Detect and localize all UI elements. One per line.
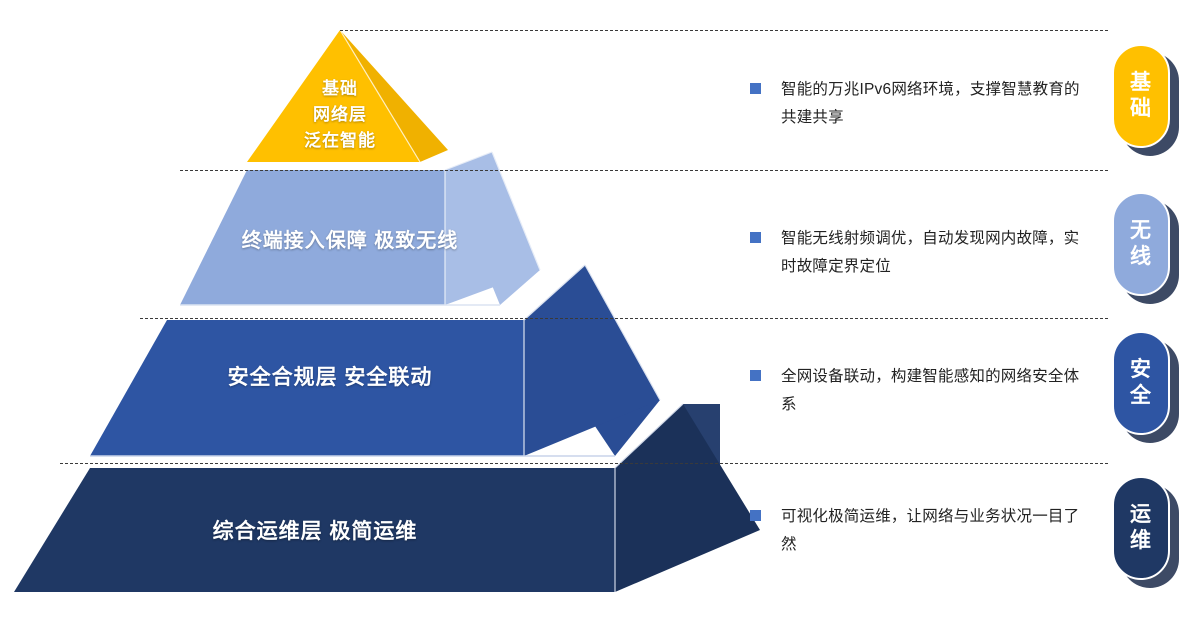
description-row-operations: 可视化极简运维，让网络与业务状况一目了然 [750, 503, 1080, 559]
square-bullet-icon [750, 510, 761, 521]
badge-security[interactable]: 安 全 [1112, 331, 1182, 443]
pyramid-layer-foundation[interactable] [247, 30, 448, 162]
pyramid-layer-wireless[interactable] [180, 152, 540, 305]
badge-operations[interactable]: 运 维 [1112, 476, 1182, 588]
square-bullet-icon [750, 232, 761, 243]
badge-foundation[interactable]: 基 础 [1112, 44, 1182, 156]
badge-wireless[interactable]: 无 线 [1112, 192, 1182, 304]
layer-operations-front [14, 468, 615, 592]
dash-line-operations [60, 463, 1108, 464]
description-row-security: 全网设备联动，构建智能感知的网络安全体系 [750, 363, 1080, 419]
badge-label-operations: 运 维 [1130, 502, 1152, 554]
layer-wireless-front [180, 170, 445, 305]
square-bullet-icon [750, 370, 761, 381]
square-bullet-icon [750, 83, 761, 94]
dash-line-foundation [340, 30, 1108, 31]
dash-line-wireless [180, 170, 1108, 171]
badge-label-wireless: 无 线 [1130, 218, 1152, 270]
description-text-operations: 可视化极简运维，让网络与业务状况一目了然 [781, 503, 1080, 559]
badge-pill-operations[interactable]: 运 维 [1112, 476, 1170, 580]
description-text-security: 全网设备联动，构建智能感知的网络安全体系 [781, 363, 1080, 419]
description-row-wireless: 智能无线射频调优，自动发现网内故障，实时故障定界定位 [750, 225, 1080, 281]
diagram-canvas: 基础 网络层 泛在智能 终端接入保障 极致无线 安全合规层 安全联动 综合运维层… [0, 0, 1200, 620]
description-row-foundation: 智能的万兆IPv6网络环境，支撑智慧教育的共建共享 [750, 76, 1080, 132]
layer-security-front [90, 320, 524, 456]
badge-pill-security[interactable]: 安 全 [1112, 331, 1170, 435]
badge-pill-foundation[interactable]: 基 础 [1112, 44, 1170, 148]
description-text-foundation: 智能的万兆IPv6网络环境，支撑智慧教育的共建共享 [781, 76, 1080, 132]
layer-operations-side [615, 404, 760, 592]
badge-pill-wireless[interactable]: 无 线 [1112, 192, 1170, 296]
badge-label-security: 安 全 [1130, 357, 1152, 409]
badge-label-foundation: 基 础 [1130, 70, 1152, 122]
description-text-wireless: 智能无线射频调优，自动发现网内故障，实时故障定界定位 [781, 225, 1080, 281]
dash-line-security [140, 318, 1108, 319]
